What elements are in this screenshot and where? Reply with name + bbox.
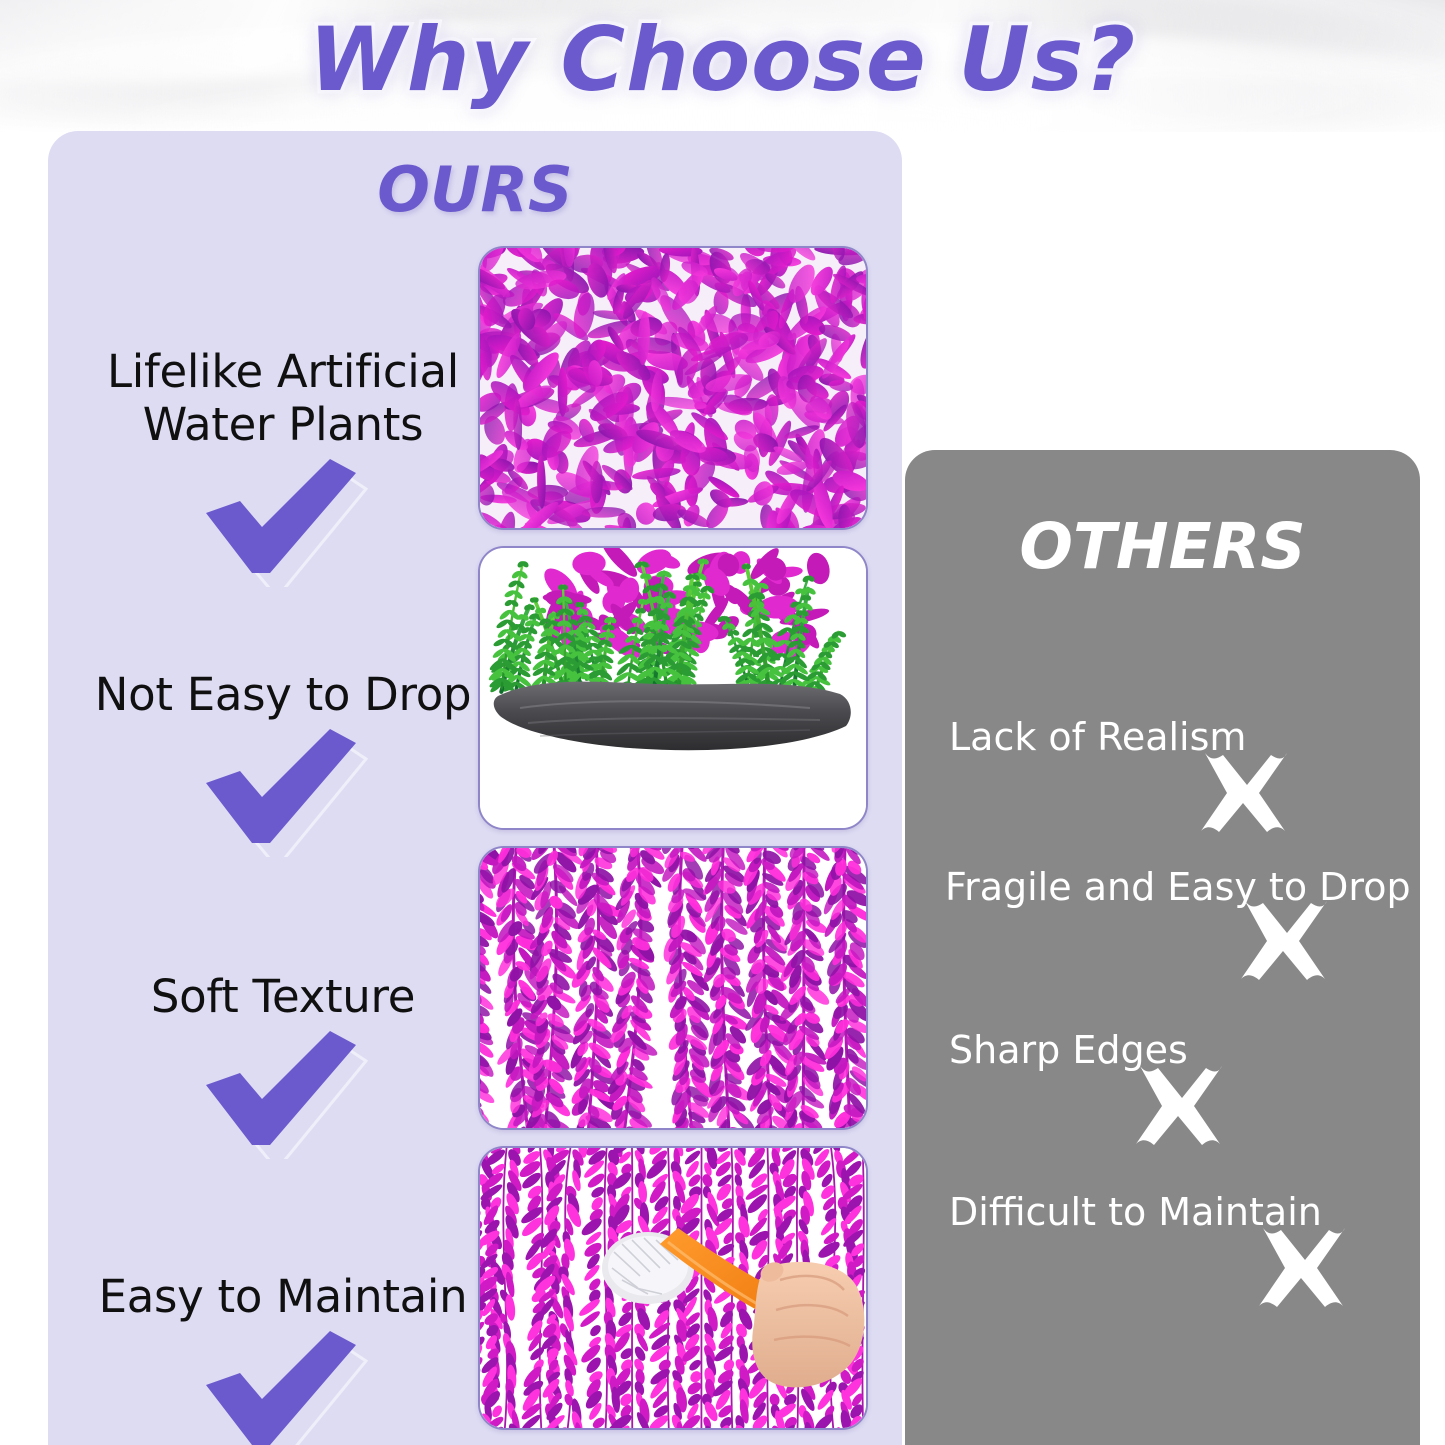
ours-feature-label: Easy to Maintain bbox=[99, 1270, 468, 1323]
others-item-label: Difficult to Maintain bbox=[949, 1190, 1420, 1234]
others-heading: OTHERS bbox=[905, 510, 1420, 583]
page-title: Why Choose Us? bbox=[0, 4, 1445, 116]
product-photo-4 bbox=[478, 1146, 868, 1430]
ours-feature-label: Lifelike Artificial Water Plants bbox=[107, 345, 459, 451]
product-photo-1 bbox=[478, 246, 868, 530]
check-icon bbox=[188, 1029, 378, 1159]
ours-heading: OURS bbox=[48, 153, 902, 226]
cross-icon bbox=[1195, 747, 1287, 839]
cross-icon bbox=[1235, 895, 1327, 987]
check-icon bbox=[188, 727, 378, 857]
others-panel: OTHERS Lack of Realism Fragile and Easy … bbox=[905, 450, 1420, 1445]
others-item-1: Lack of Realism bbox=[905, 715, 1420, 759]
ours-feature-3: Soft Texture bbox=[48, 970, 518, 1159]
others-item-label: Fragile and Easy to Drop bbox=[945, 865, 1420, 909]
others-item-label: Lack of Realism bbox=[949, 715, 1420, 759]
others-item-2: Fragile and Easy to Drop bbox=[905, 865, 1420, 909]
check-icon bbox=[188, 1329, 378, 1445]
ours-feature-1: Lifelike Artificial Water Plants bbox=[48, 345, 518, 587]
product-photo-3 bbox=[478, 846, 868, 1130]
product-photo-2 bbox=[478, 546, 868, 830]
others-item-3: Sharp Edges bbox=[905, 1028, 1420, 1072]
ours-feature-label: Soft Texture bbox=[151, 970, 415, 1023]
ours-feature-2: Not Easy to Drop bbox=[48, 668, 518, 857]
cross-icon bbox=[1130, 1060, 1222, 1152]
cross-icon bbox=[1253, 1222, 1345, 1314]
infographic-root: Why Choose Us? OURS Lifelike Artificial … bbox=[0, 0, 1445, 1445]
ours-feature-label: Not Easy to Drop bbox=[95, 668, 471, 721]
others-item-4: Difficult to Maintain bbox=[905, 1190, 1420, 1234]
ours-feature-4: Easy to Maintain bbox=[48, 1270, 518, 1445]
check-icon bbox=[188, 457, 378, 587]
